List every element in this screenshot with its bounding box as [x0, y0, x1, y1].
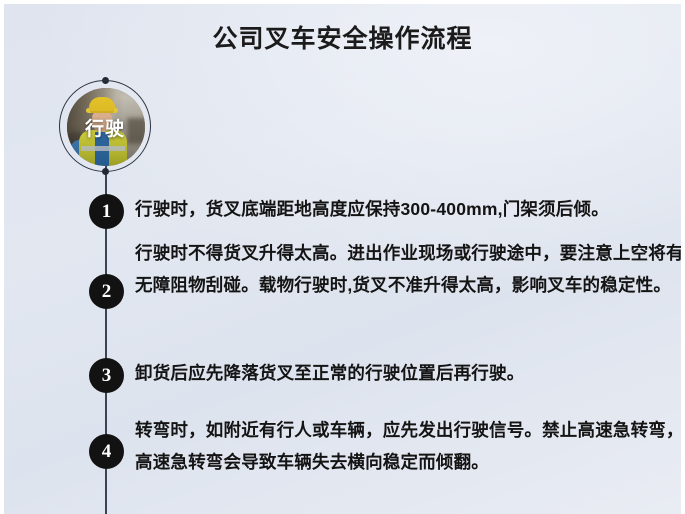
slide-root: 公司叉车安全操作流程 行驶 1	[0, 0, 685, 514]
step-text-2: 行驶时不得货叉升得太高。进出作业现场或行驶途中，要注意上空将有无障阻物刮碰。载物…	[135, 237, 681, 301]
slide-canvas: 公司叉车安全操作流程 行驶 1	[4, 4, 681, 514]
step-text-3: 卸货后应先降落货叉至正常的行驶位置后再行驶。	[135, 357, 681, 389]
page-title: 公司叉车安全操作流程	[4, 22, 681, 56]
step-number-badge-4: 4	[89, 434, 124, 469]
step-number-badge-3: 3	[89, 358, 124, 393]
step-text-1: 行驶时，货叉底端距地高度应保持300-400mm,门架须后倾。	[135, 193, 681, 225]
hero-photo-node: 行驶	[59, 80, 153, 174]
timeline-node-dot-bottom	[102, 168, 109, 175]
step-number-badge-2: 2	[89, 274, 124, 309]
step-number-badge-1: 1	[89, 194, 124, 229]
hero-label: 行驶	[59, 114, 151, 141]
step-text-4: 转弯时，如附近有行人或车辆，应先发出行驶信号。禁止高速急转弯，高速急转弯会导致车…	[135, 414, 681, 478]
